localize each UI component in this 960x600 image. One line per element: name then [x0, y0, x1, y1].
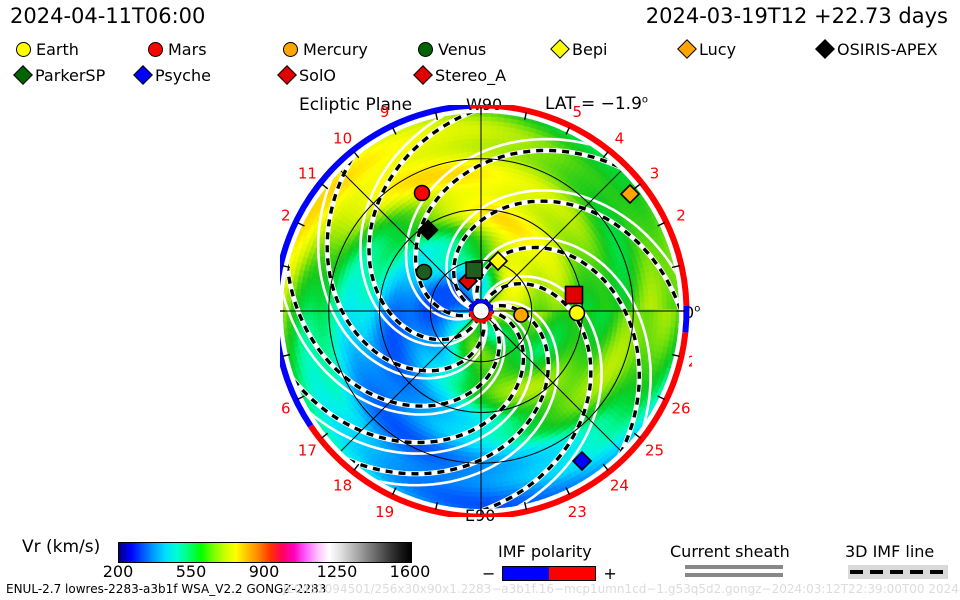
degree-sup: o: [642, 94, 648, 105]
speed-cell: [662, 301, 667, 309]
current-datetime-label: 2024-04-11T06:00: [10, 4, 205, 28]
legend-item-label: Stereo_A: [435, 66, 506, 85]
speed-cell: [477, 108, 486, 112]
legend-item-label: Bepi: [572, 40, 607, 59]
degree-sup: o: [694, 304, 700, 315]
legend-item-psyche: Psyche: [136, 62, 211, 88]
diamond-marker-icon: [277, 65, 297, 85]
legend-item-venus: Venus: [418, 36, 486, 62]
speed-cell: [280, 299, 283, 308]
circle-marker-icon: [283, 42, 298, 57]
legend-item-label: Mercury: [303, 40, 368, 59]
legend-row-2: ParkerSPPsycheSolOStereo_A: [8, 62, 952, 88]
legend-item-label: Psyche: [155, 66, 211, 85]
model-start-datetime-label: 2024-03-19T12 +22.73 days: [646, 4, 948, 28]
speed-cell: [280, 313, 283, 322]
legend-item-mercury: Mercury: [283, 36, 368, 62]
legend-item-stereo-a: Stereo_A: [416, 62, 506, 88]
speed-cell: [613, 304, 618, 310]
legend-item-lucy: Lucy: [680, 36, 736, 62]
speed-cell: [280, 320, 283, 329]
speed-cell: [587, 305, 592, 310]
legend-item-bepi: Bepi: [553, 36, 607, 62]
speed-cell: [280, 306, 282, 315]
diamond-marker-icon: [133, 65, 153, 85]
speed-cell: [280, 285, 284, 294]
circle-marker-icon: [148, 42, 163, 57]
body-legend: EarthMarsMercuryVenusBepiLucyOSIRIS-APEX…: [8, 36, 952, 88]
speed-cell: [609, 304, 614, 310]
speed-cell: [604, 304, 609, 309]
speed-cell: [469, 509, 478, 514]
legend-item-label: Mars: [168, 40, 207, 59]
speed-cell: [680, 307, 684, 316]
solar-wind-polar-plot[interactable]: 0123456789101112131415161718192021222324…: [280, 105, 692, 517]
legend-item-label: OSIRIS-APEX: [837, 40, 938, 59]
speed-cell: [671, 301, 676, 309]
legend-item-label: Venus: [438, 40, 486, 59]
speed-cell: [280, 292, 283, 301]
diamond-marker-icon: [13, 65, 33, 85]
legend-item-mars: Mars: [148, 36, 207, 62]
legend-item-label: Earth: [36, 40, 79, 59]
legend-item-label: SolO: [299, 66, 336, 85]
speed-cell: [600, 305, 605, 310]
legend-item-osiris-apex: OSIRIS-APEX: [818, 36, 938, 62]
legend-item-earth: Earth: [16, 36, 79, 62]
circle-marker-icon: [418, 42, 433, 57]
legend-item-label: Lucy: [699, 40, 736, 59]
speed-cell: [648, 302, 653, 309]
speed-cell: [591, 305, 596, 310]
legend-row-1: EarthMarsMercuryVenusBepiLucyOSIRIS-APEX: [8, 36, 952, 62]
legend-item-solo: SolO: [280, 62, 336, 88]
speed-cell: [666, 301, 671, 309]
speed-cell: [644, 302, 649, 309]
speed-cell: [280, 327, 284, 336]
legend-item-label: ParkerSP: [35, 66, 105, 85]
circle-marker-icon: [16, 42, 31, 57]
diamond-marker-icon: [677, 39, 697, 59]
speed-cell: [476, 510, 485, 514]
speed-cell: [640, 302, 645, 309]
plot-canvas: 0123456789101112131415161718192021222324…: [280, 105, 692, 517]
speed-cell: [483, 509, 492, 514]
speed-cell: [626, 303, 631, 309]
speed-cell: [657, 302, 662, 310]
diamond-marker-icon: [550, 39, 570, 59]
speed-cell: [653, 302, 658, 309]
diamond-marker-icon: [815, 39, 835, 59]
legend-item-parkersp: ParkerSP: [16, 62, 105, 88]
diamond-marker-icon: [413, 65, 433, 85]
speed-cell: [596, 305, 601, 310]
